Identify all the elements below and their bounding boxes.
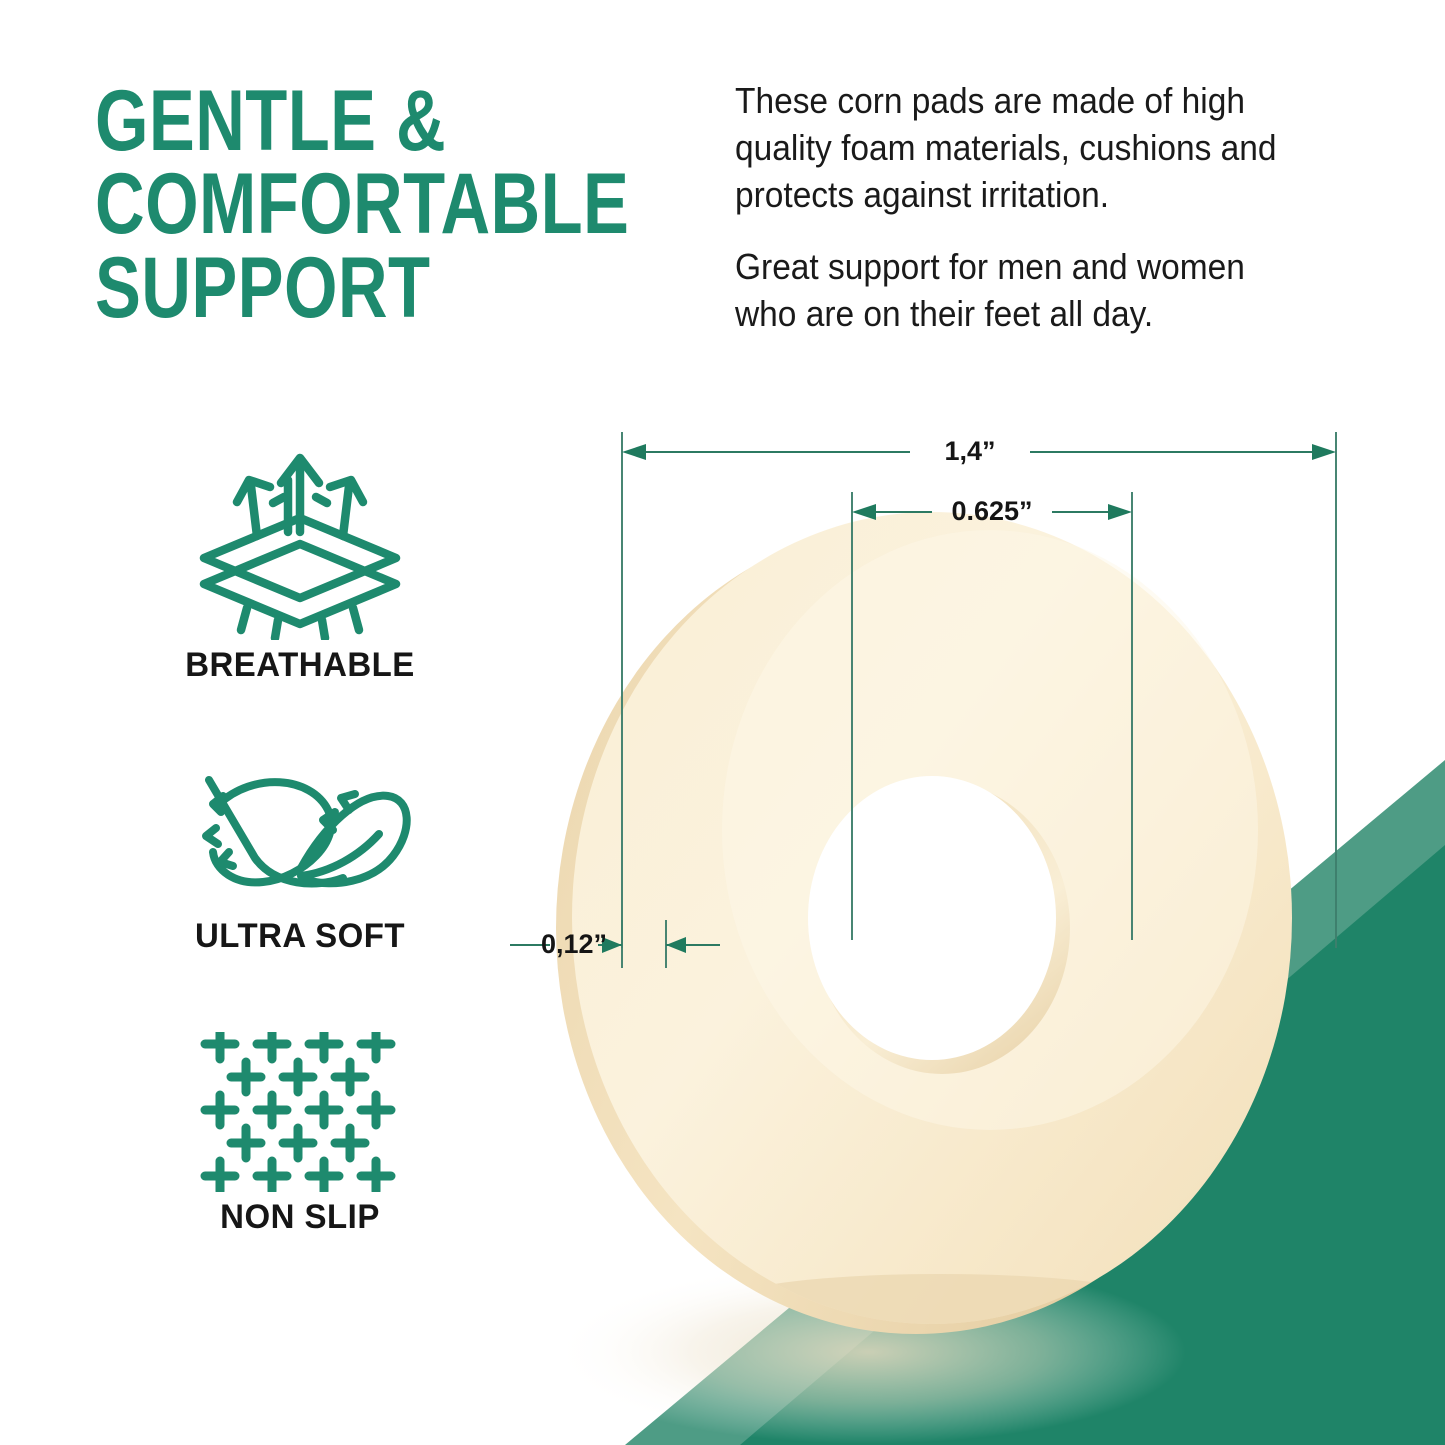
product-infographic: Gentle & Comfortable Support These corn … — [0, 0, 1445, 1445]
dimension-annotations: 1,4” 0.625” — [470, 400, 1445, 1445]
breathable-layers-arrows-icon — [145, 440, 455, 640]
feature-item-breathable: BREATHABLE — [145, 440, 455, 685]
feature-list: BREATHABLE — [145, 440, 455, 1237]
feature-label-non-slip: NON SLIP — [150, 1198, 451, 1237]
intro-paragraph-1: These corn pads are made of high quality… — [735, 78, 1307, 218]
dimension-thickness: 0,12” — [510, 920, 720, 968]
cross-grid-icon — [145, 1032, 455, 1192]
feature-item-non-slip: NON SLIP — [145, 1032, 455, 1237]
intro-copy: These corn pads are made of high quality… — [735, 78, 1307, 338]
intro-paragraph-2: Great support for men and women who are … — [735, 244, 1307, 338]
dimension-label-inner-diameter: 0.625” — [951, 496, 1032, 526]
page-title: Gentle & Comfortable Support — [95, 80, 575, 330]
feature-label-ultra-soft: ULTRA SOFT — [150, 917, 451, 956]
feature-label-breathable: BREATHABLE — [150, 646, 451, 685]
feather-icon — [145, 761, 455, 911]
feature-item-ultra-soft: ULTRA SOFT — [145, 761, 455, 956]
dimension-label-thickness: 0,12” — [541, 929, 607, 959]
product-diagram: 1,4” 0.625” — [470, 400, 1445, 1445]
dimension-inner-diameter: 0.625” — [852, 492, 1132, 940]
dimension-label-outer-diameter: 1,4” — [944, 436, 995, 466]
